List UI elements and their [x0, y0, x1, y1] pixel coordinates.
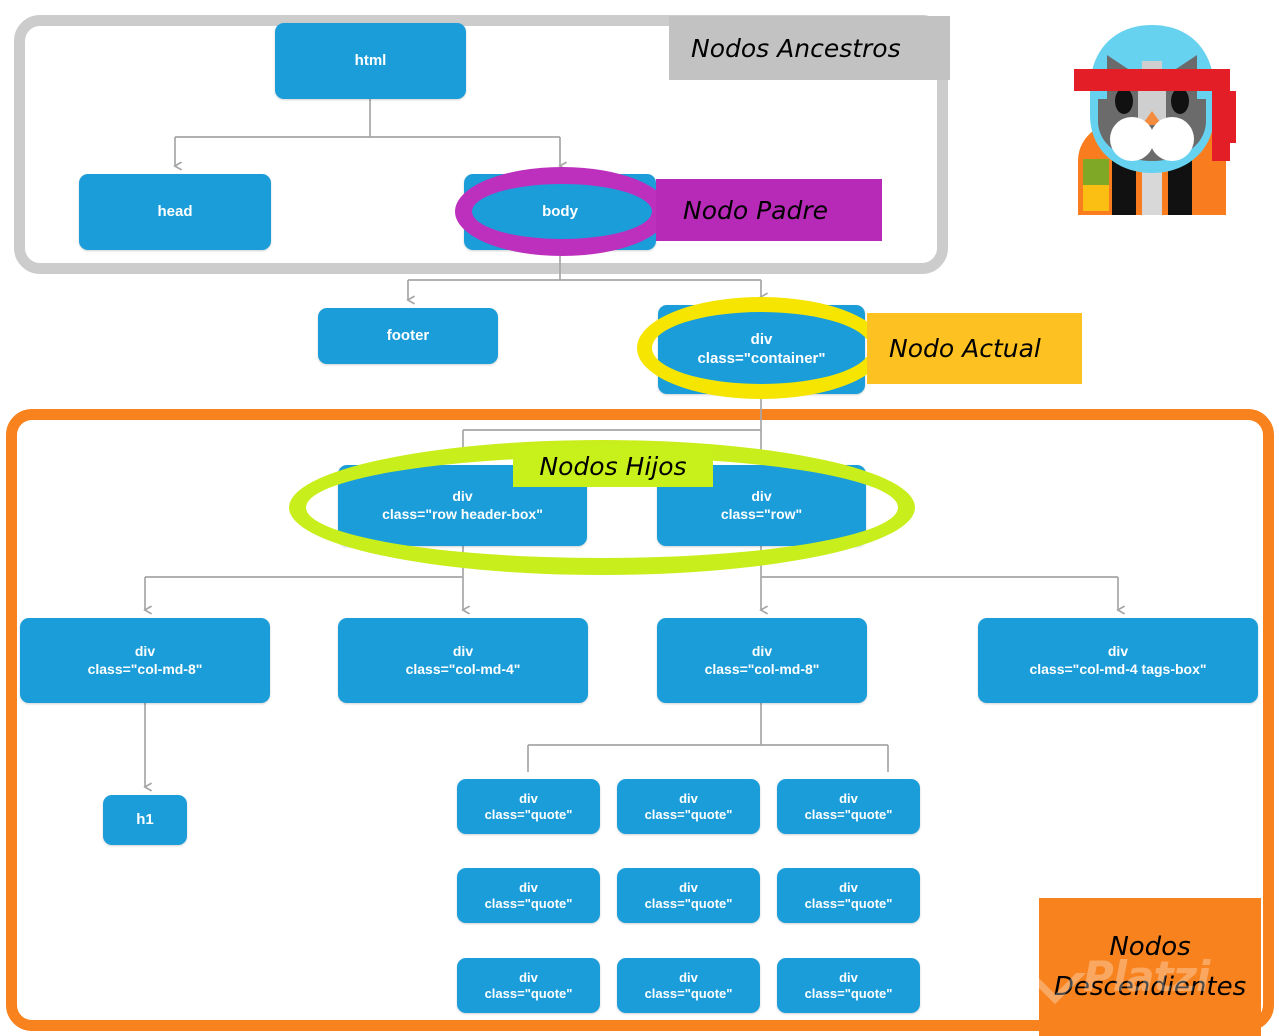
- node-div-quote-line2: class="quote": [805, 986, 893, 1002]
- node-head[interactable]: head: [79, 174, 271, 250]
- parent-highlight-ellipse: [455, 167, 669, 256]
- current-highlight-ellipse: [637, 297, 885, 399]
- legend-children: Nodos Hijos: [513, 445, 713, 487]
- legend-descendants: Platzi Nodos Descendientes: [1039, 898, 1261, 1036]
- node-div-quote[interactable]: divclass="quote": [617, 868, 760, 923]
- node-div-quote-line2: class="quote": [485, 986, 573, 1002]
- node-head-line1: head: [157, 203, 192, 221]
- node-div-col-md-4-tags-box-line1: div: [1108, 643, 1128, 660]
- node-div-quote-line1: div: [519, 970, 538, 986]
- node-div-col-md-4[interactable]: div class="col-md-4": [338, 618, 588, 703]
- node-h1[interactable]: h1: [103, 795, 187, 845]
- node-div-col-md-8-b[interactable]: div class="col-md-8": [657, 618, 867, 703]
- node-div-quote-line2: class="quote": [645, 986, 733, 1002]
- node-div-quote[interactable]: divclass="quote": [777, 779, 920, 834]
- legend-children-text: Nodos Hijos: [539, 452, 686, 481]
- legend-parent-text: Nodo Padre: [683, 196, 828, 225]
- node-div-quote-line2: class="quote": [805, 896, 893, 912]
- node-div-quote[interactable]: divclass="quote": [777, 868, 920, 923]
- node-div-col-md-8-b-line1: div: [752, 643, 772, 660]
- legend-current-text: Nodo Actual: [889, 334, 1041, 363]
- node-footer[interactable]: footer: [318, 308, 498, 364]
- node-div-quote-line2: class="quote": [485, 807, 573, 823]
- node-div-quote[interactable]: divclass="quote": [457, 958, 600, 1013]
- node-div-quote[interactable]: divclass="quote": [457, 868, 600, 923]
- legend-current: Nodo Actual: [867, 313, 1082, 384]
- legend-ancestors: Nodos Ancestros: [669, 16, 950, 80]
- node-div-quote-line2: class="quote": [645, 896, 733, 912]
- node-html-line1: html: [355, 52, 387, 70]
- legend-descendants-line2: Descendientes: [1054, 967, 1246, 1007]
- node-div-quote[interactable]: divclass="quote": [457, 779, 600, 834]
- node-div-quote-line1: div: [839, 970, 858, 986]
- node-div-col-md-4-line2: class="col-md-4": [406, 661, 521, 678]
- legend-ancestors-text: Nodos Ancestros: [691, 34, 901, 63]
- node-div-col-md-8-a-line2: class="col-md-8": [88, 661, 203, 678]
- node-div-col-md-4-tags-box[interactable]: div class="col-md-4 tags-box": [978, 618, 1258, 703]
- node-div-quote-line1: div: [839, 791, 858, 807]
- legend-descendants-line1: Nodos: [1109, 927, 1190, 967]
- node-div-quote[interactable]: divclass="quote": [777, 958, 920, 1013]
- platzi-cat-logo-icon: [1052, 11, 1252, 223]
- node-div-col-md-8-a[interactable]: div class="col-md-8": [20, 618, 270, 703]
- node-div-col-md-4-tags-box-line2: class="col-md-4 tags-box": [1029, 661, 1206, 678]
- node-div-quote-line2: class="quote": [805, 807, 893, 823]
- node-div-col-md-4-line1: div: [453, 643, 473, 660]
- node-div-quote-line1: div: [519, 880, 538, 896]
- node-div-quote-line1: div: [679, 970, 698, 986]
- node-div-quote-line2: class="quote": [485, 896, 573, 912]
- node-html[interactable]: html: [275, 23, 466, 99]
- node-div-quote[interactable]: divclass="quote": [617, 958, 760, 1013]
- node-div-quote[interactable]: divclass="quote": [617, 779, 760, 834]
- node-div-quote-line2: class="quote": [645, 807, 733, 823]
- diagram-canvas: html head body footer div class="contain…: [0, 0, 1279, 1036]
- node-footer-line1: footer: [387, 327, 430, 345]
- node-div-quote-line1: div: [519, 791, 538, 807]
- node-h1-line1: h1: [136, 811, 154, 829]
- legend-parent: Nodo Padre: [656, 179, 882, 241]
- node-div-quote-line1: div: [839, 880, 858, 896]
- node-div-quote-line1: div: [679, 791, 698, 807]
- node-div-col-md-8-b-line2: class="col-md-8": [705, 661, 820, 678]
- node-div-col-md-8-a-line1: div: [135, 643, 155, 660]
- node-div-quote-line1: div: [679, 880, 698, 896]
